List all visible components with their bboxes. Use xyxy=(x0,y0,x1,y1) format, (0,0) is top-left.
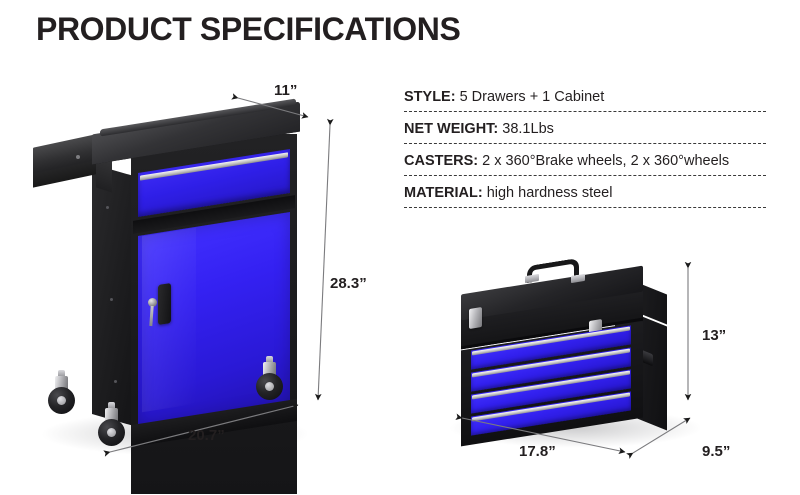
page-title: PRODUCT SPECIFICATIONS xyxy=(36,11,460,48)
dim-label-cart-depth: 11” xyxy=(274,82,297,99)
spec-key-material: MATERIAL: xyxy=(404,185,483,201)
product-specification-sheet: PRODUCT SPECIFICATIONS STYLE: 5 Drawers … xyxy=(0,0,800,495)
spec-value-casters: 2 x 360°Brake wheels, 2 x 360°wheels xyxy=(478,153,729,169)
product-image-tool-chest xyxy=(455,258,695,443)
cart-side-panel xyxy=(92,164,134,426)
dim-label-toolbox-width: 17.8” xyxy=(519,443,556,460)
spec-row-net-weight: NET WEIGHT: 38.1Lbs xyxy=(404,112,766,144)
dim-label-toolbox-depth: 9.5” xyxy=(702,443,730,460)
spec-text-material: MATERIAL: high hardness steel xyxy=(404,185,612,201)
spec-row-casters: CASTERS: 2 x 360°Brake wheels, 2 x 360°w… xyxy=(404,144,766,176)
product-image-rolling-cart xyxy=(30,112,330,442)
dim-label-toolbox-height: 13” xyxy=(702,327,726,344)
cart-door-handle xyxy=(158,283,171,325)
dim-label-cart-height: 28.3” xyxy=(330,275,367,292)
spec-text-net-weight: NET WEIGHT: 38.1Lbs xyxy=(404,121,554,137)
spec-text-casters: CASTERS: 2 x 360°Brake wheels, 2 x 360°w… xyxy=(404,153,729,169)
spec-row-material: MATERIAL: high hardness steel xyxy=(404,176,766,208)
caster-hub xyxy=(265,382,274,391)
caster-hub xyxy=(107,428,116,437)
spec-row-style: STYLE: 5 Drawers + 1 Cabinet xyxy=(404,80,766,112)
specification-list: STYLE: 5 Drawers + 1 Cabinet NET WEIGHT:… xyxy=(404,80,766,208)
spec-text-style: STYLE: 5 Drawers + 1 Cabinet xyxy=(404,89,604,105)
cart-side-rivet xyxy=(110,298,113,301)
cart-tray-screw xyxy=(76,155,80,159)
spec-divider xyxy=(404,207,766,208)
cart-side-rivet xyxy=(114,380,117,383)
toolbox-latch-left xyxy=(469,307,482,329)
spec-value-material: high hardness steel xyxy=(483,185,613,201)
spec-key-casters: CASTERS: xyxy=(404,153,478,169)
spec-key-net-weight: NET WEIGHT: xyxy=(404,121,498,137)
dim-label-cart-width: 20.7” xyxy=(188,427,225,444)
spec-key-style: STYLE: xyxy=(404,89,456,105)
spec-value-style: 5 Drawers + 1 Cabinet xyxy=(456,89,605,105)
cart-side-rivet xyxy=(106,206,109,209)
spec-value-net-weight: 38.1Lbs xyxy=(498,121,554,137)
caster-hub xyxy=(57,396,66,405)
